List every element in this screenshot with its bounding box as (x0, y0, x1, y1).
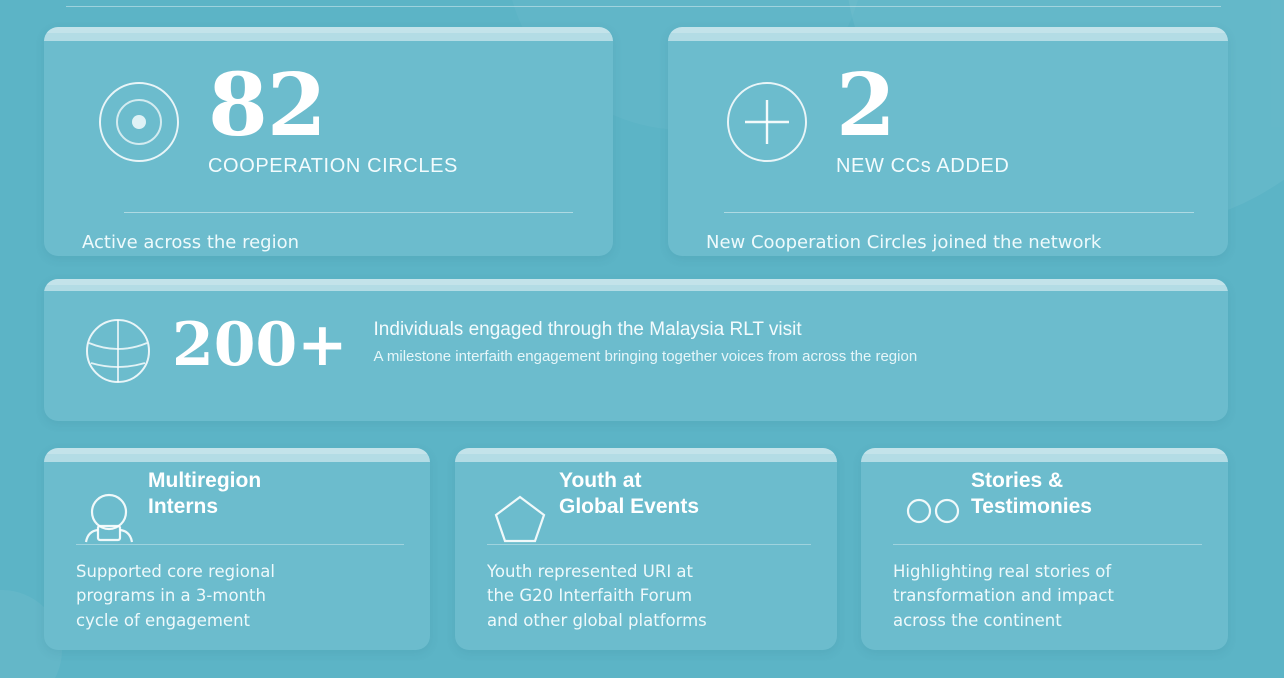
highlight-title: Youth at Global Events (559, 468, 699, 521)
highlight-card-youth[interactable]: Youth at Global Events Youth represented… (455, 448, 837, 650)
card-accent-bar (44, 27, 613, 41)
highlight-header: Multiregion Interns (44, 462, 430, 540)
card-divider (724, 212, 1194, 213)
stat-label: COOPERATION CIRCLES (208, 155, 458, 178)
plus-circle-icon (724, 79, 810, 169)
banner-title: Individuals engaged through the Malaysia… (374, 319, 918, 341)
card-accent-bar (861, 448, 1228, 462)
banner-subtitle: A milestone interfaith engagement bringi… (374, 348, 918, 365)
card-divider (893, 544, 1202, 545)
stat-header: 82 COOPERATION CIRCLES (44, 41, 613, 178)
highlight-title: Multiregion Interns (148, 468, 261, 521)
card-accent-bar (44, 279, 1228, 291)
two-circles-icon (905, 496, 961, 530)
person-icon (80, 490, 138, 550)
globe-icon (82, 315, 154, 391)
card-accent-bar (44, 448, 430, 462)
stat-card-new-ccs[interactable]: 2 NEW CCs ADDED New Cooperation Circles … (668, 27, 1228, 256)
stat-label: NEW CCs ADDED (836, 155, 1009, 178)
card-accent-bar (668, 27, 1228, 41)
card-accent-bar (455, 448, 837, 462)
stat-subtitle: New Cooperation Circles joined the netwo… (706, 232, 1101, 253)
stat-card-cooperation-circles[interactable]: 82 COOPERATION CIRCLES Active across the… (44, 27, 613, 256)
highlight-card-stories[interactable]: Stories & Testimonies Highlighting real … (861, 448, 1228, 650)
highlight-body: Supported core regional programs in a 3-… (76, 560, 410, 633)
infographic-stage: 82 COOPERATION CIRCLES Active across the… (0, 0, 1284, 678)
highlight-body: Highlighting real stories of transformat… (893, 560, 1208, 633)
highlight-body: Youth represented URI at the G20 Interfa… (487, 560, 817, 633)
banner-row: 200+ Individuals engaged through the Mal… (44, 293, 1228, 391)
stat-header: 2 NEW CCs ADDED (668, 41, 1228, 178)
stat-number: 2 (836, 65, 1009, 147)
highlight-header: Stories & Testimonies (861, 462, 1228, 540)
card-divider (76, 544, 404, 545)
highlight-title: Stories & Testimonies (971, 468, 1092, 521)
stat-subtitle: Active across the region (82, 232, 299, 253)
highlight-card-interns[interactable]: Multiregion Interns Supported core regio… (44, 448, 430, 650)
pentagon-icon (491, 490, 549, 550)
banner-number: 200+ (172, 315, 348, 375)
card-divider (487, 544, 811, 545)
concentric-circles-icon (96, 79, 182, 169)
highlight-header: Youth at Global Events (455, 462, 837, 540)
stat-number: 82 (208, 65, 458, 147)
banner-card-milestone[interactable]: 200+ Individuals engaged through the Mal… (44, 279, 1228, 421)
card-divider (124, 212, 573, 213)
